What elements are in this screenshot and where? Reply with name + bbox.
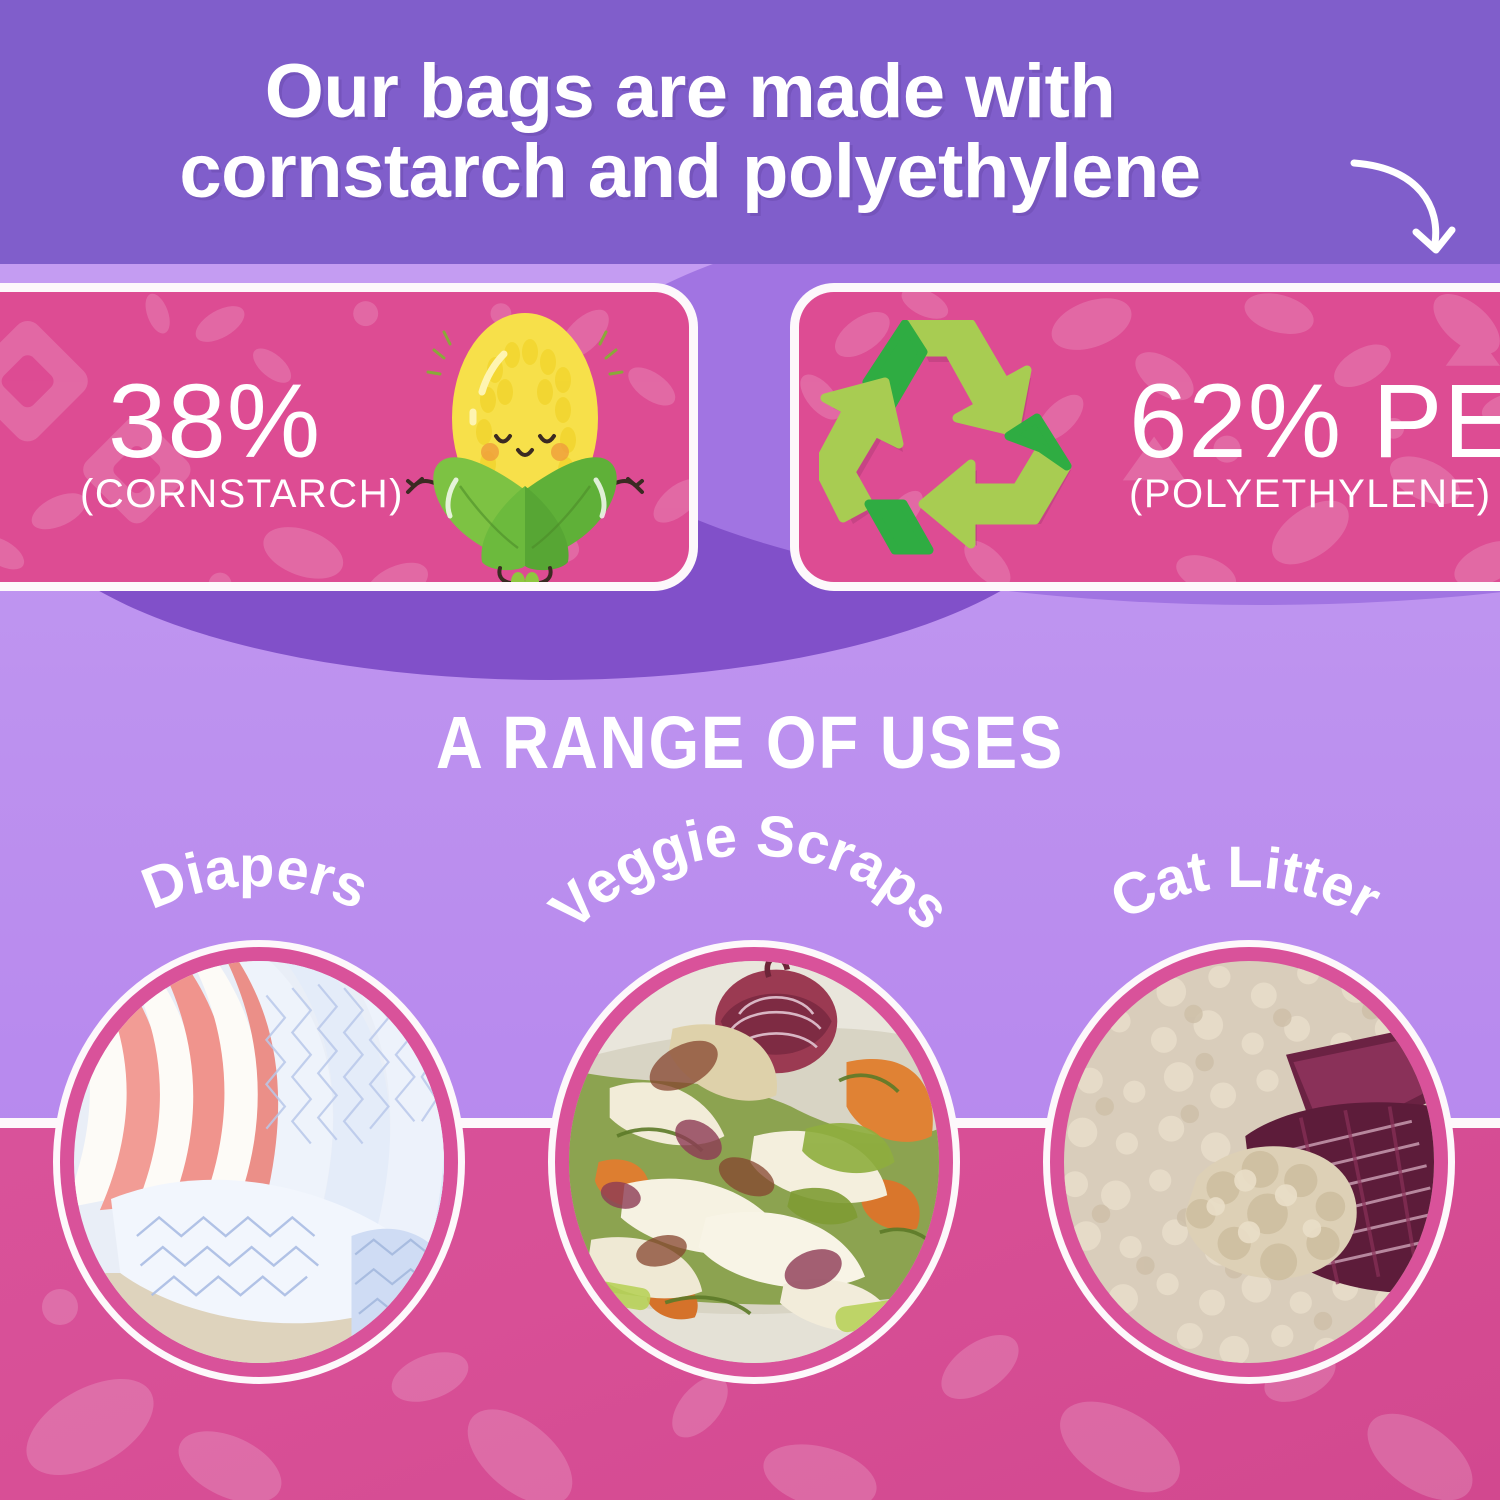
diapers-photo-ring [60,947,458,1377]
use-item-diapers: Diapers [20,855,490,1395]
veggie-scraps-photo-ring [555,947,953,1377]
card-polyethylene: 62% PE (POLYETHYLENE) [790,283,1500,591]
page-title: Our bags are made with cornstarch and po… [0,52,1380,212]
uses-list: Diapers [0,855,1500,1395]
cornstarch-stat: 38% (CORNSTARCH) [80,372,404,517]
use-item-veggie-scraps: Veggie Scraps [515,855,985,1395]
use-item-cat-litter: Cat Litter [1010,855,1480,1395]
header-banner: Our bags are made with cornstarch and po… [0,0,1500,264]
infographic-root: Our bags are made with cornstarch and po… [0,0,1500,1500]
cornstarch-sublabel: (CORNSTARCH) [80,472,404,517]
composition-cards: 38% (CORNSTARCH) [0,283,1500,591]
cat-litter-photo-ring [1050,947,1448,1377]
polyethylene-sublabel: (POLYETHYLENE) [1129,472,1500,517]
title-line-2: cornstarch and polyethylene [0,132,1380,212]
veggie-scraps-photo [569,961,939,1363]
cornstarch-percent: 38% [80,372,404,472]
curved-down-arrow-icon [1340,138,1480,264]
uses-section-title: A RANGE OF USES [90,700,1410,785]
recycle-icon [819,320,1109,570]
polyethylene-percent: 62% PE [1129,372,1500,472]
diapers-photo [74,961,444,1363]
corn-mascot-icon [400,300,650,590]
title-line-1: Our bags are made with [265,49,1116,134]
cat-litter-photo [1064,961,1434,1363]
polyethylene-stat: 62% PE (POLYETHYLENE) [1129,372,1500,517]
card-cornstarch: 38% (CORNSTARCH) [0,283,698,591]
